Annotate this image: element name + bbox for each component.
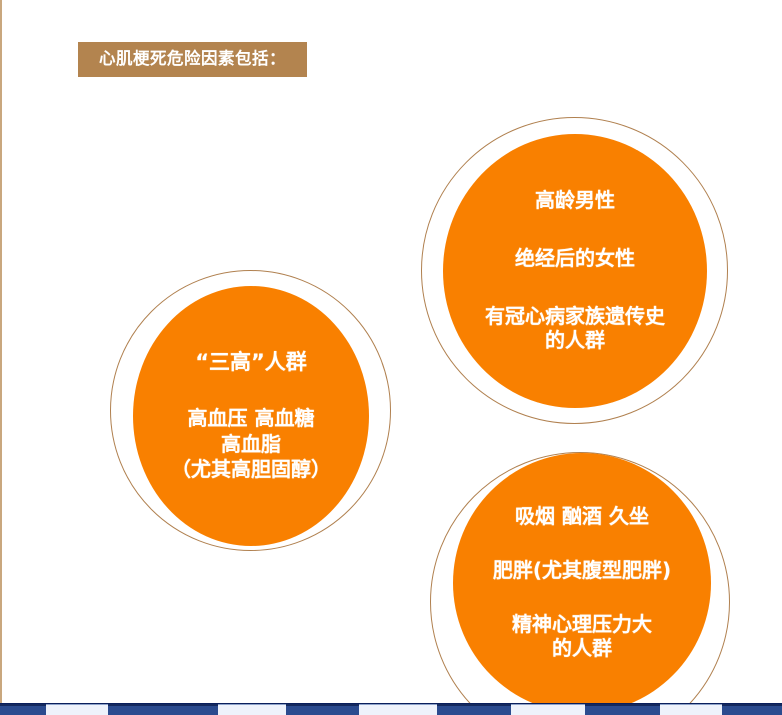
bubble-demographic-line-2: 绝经后的女性 (515, 247, 635, 271)
bubble-demographic: 高龄男性 绝经后的女性 有冠心病家族遗传史 的人群 (421, 117, 728, 424)
bubble-sangao-fill: “三高”人群 高血压 高血糖 高血脂 （尤其高胆固醇） (133, 286, 369, 546)
bubble-demographic-line-1: 高龄男性 (535, 189, 615, 213)
taskbar-gap (361, 704, 437, 715)
bubble-lifestyle-line-4: 的人群 (552, 637, 612, 661)
taskbar-button[interactable] (437, 704, 511, 715)
left-edge-rule (0, 0, 2, 703)
taskbar-button[interactable] (286, 704, 359, 715)
bubble-lifestyle-line-2: 肥胖(尤其腹型肥胖) (493, 559, 671, 583)
taskbar-gap (220, 704, 286, 715)
bubble-lifestyle: 吸烟 酗酒 久坐 肥胖(尤其腹型肥胖) 精神心理压力大 的人群 (430, 452, 730, 703)
bubble-sangao-line-1: “三高”人群 (195, 350, 307, 375)
taskbar-button[interactable] (108, 704, 218, 715)
bubble-lifestyle-line-3: 精神心理压力大 (512, 613, 652, 637)
slide-canvas: 心肌梗死危险因素包括： “三高”人群 高血压 高血糖 高血脂 （尤其高胆固醇） … (0, 0, 782, 703)
taskbar-button[interactable] (585, 704, 660, 715)
taskbar[interactable] (0, 703, 782, 715)
taskbar-button[interactable] (0, 704, 46, 715)
bubble-sangao-line-2: 高血压 高血糖 (188, 407, 315, 431)
taskbar-gap (662, 704, 722, 715)
taskbar-gap (48, 704, 108, 715)
taskbar-gap (513, 704, 585, 715)
bubble-demographic-line-3: 有冠心病家族遗传史 (485, 305, 665, 329)
bubble-lifestyle-line-1: 吸烟 酗酒 久坐 (515, 505, 649, 529)
bubble-demographic-fill: 高龄男性 绝经后的女性 有冠心病家族遗传史 的人群 (443, 134, 707, 408)
taskbar-button[interactable] (722, 704, 782, 715)
bubble-demographic-line-4: 的人群 (545, 329, 605, 353)
bubble-sangao: “三高”人群 高血压 高血糖 高血脂 （尤其高胆固醇） (110, 270, 391, 551)
bubble-sangao-line-4: （尤其高胆固醇） (171, 458, 331, 482)
bubble-sangao-line-3: 高血脂 (221, 433, 281, 457)
header-banner: 心肌梗死危险因素包括： (78, 42, 307, 77)
header-banner-label: 心肌梗死危险因素包括： (99, 51, 286, 68)
bubble-lifestyle-fill: 吸烟 酗酒 久坐 肥胖(尤其腹型肥胖) 精神心理压力大 的人群 (453, 453, 711, 703)
